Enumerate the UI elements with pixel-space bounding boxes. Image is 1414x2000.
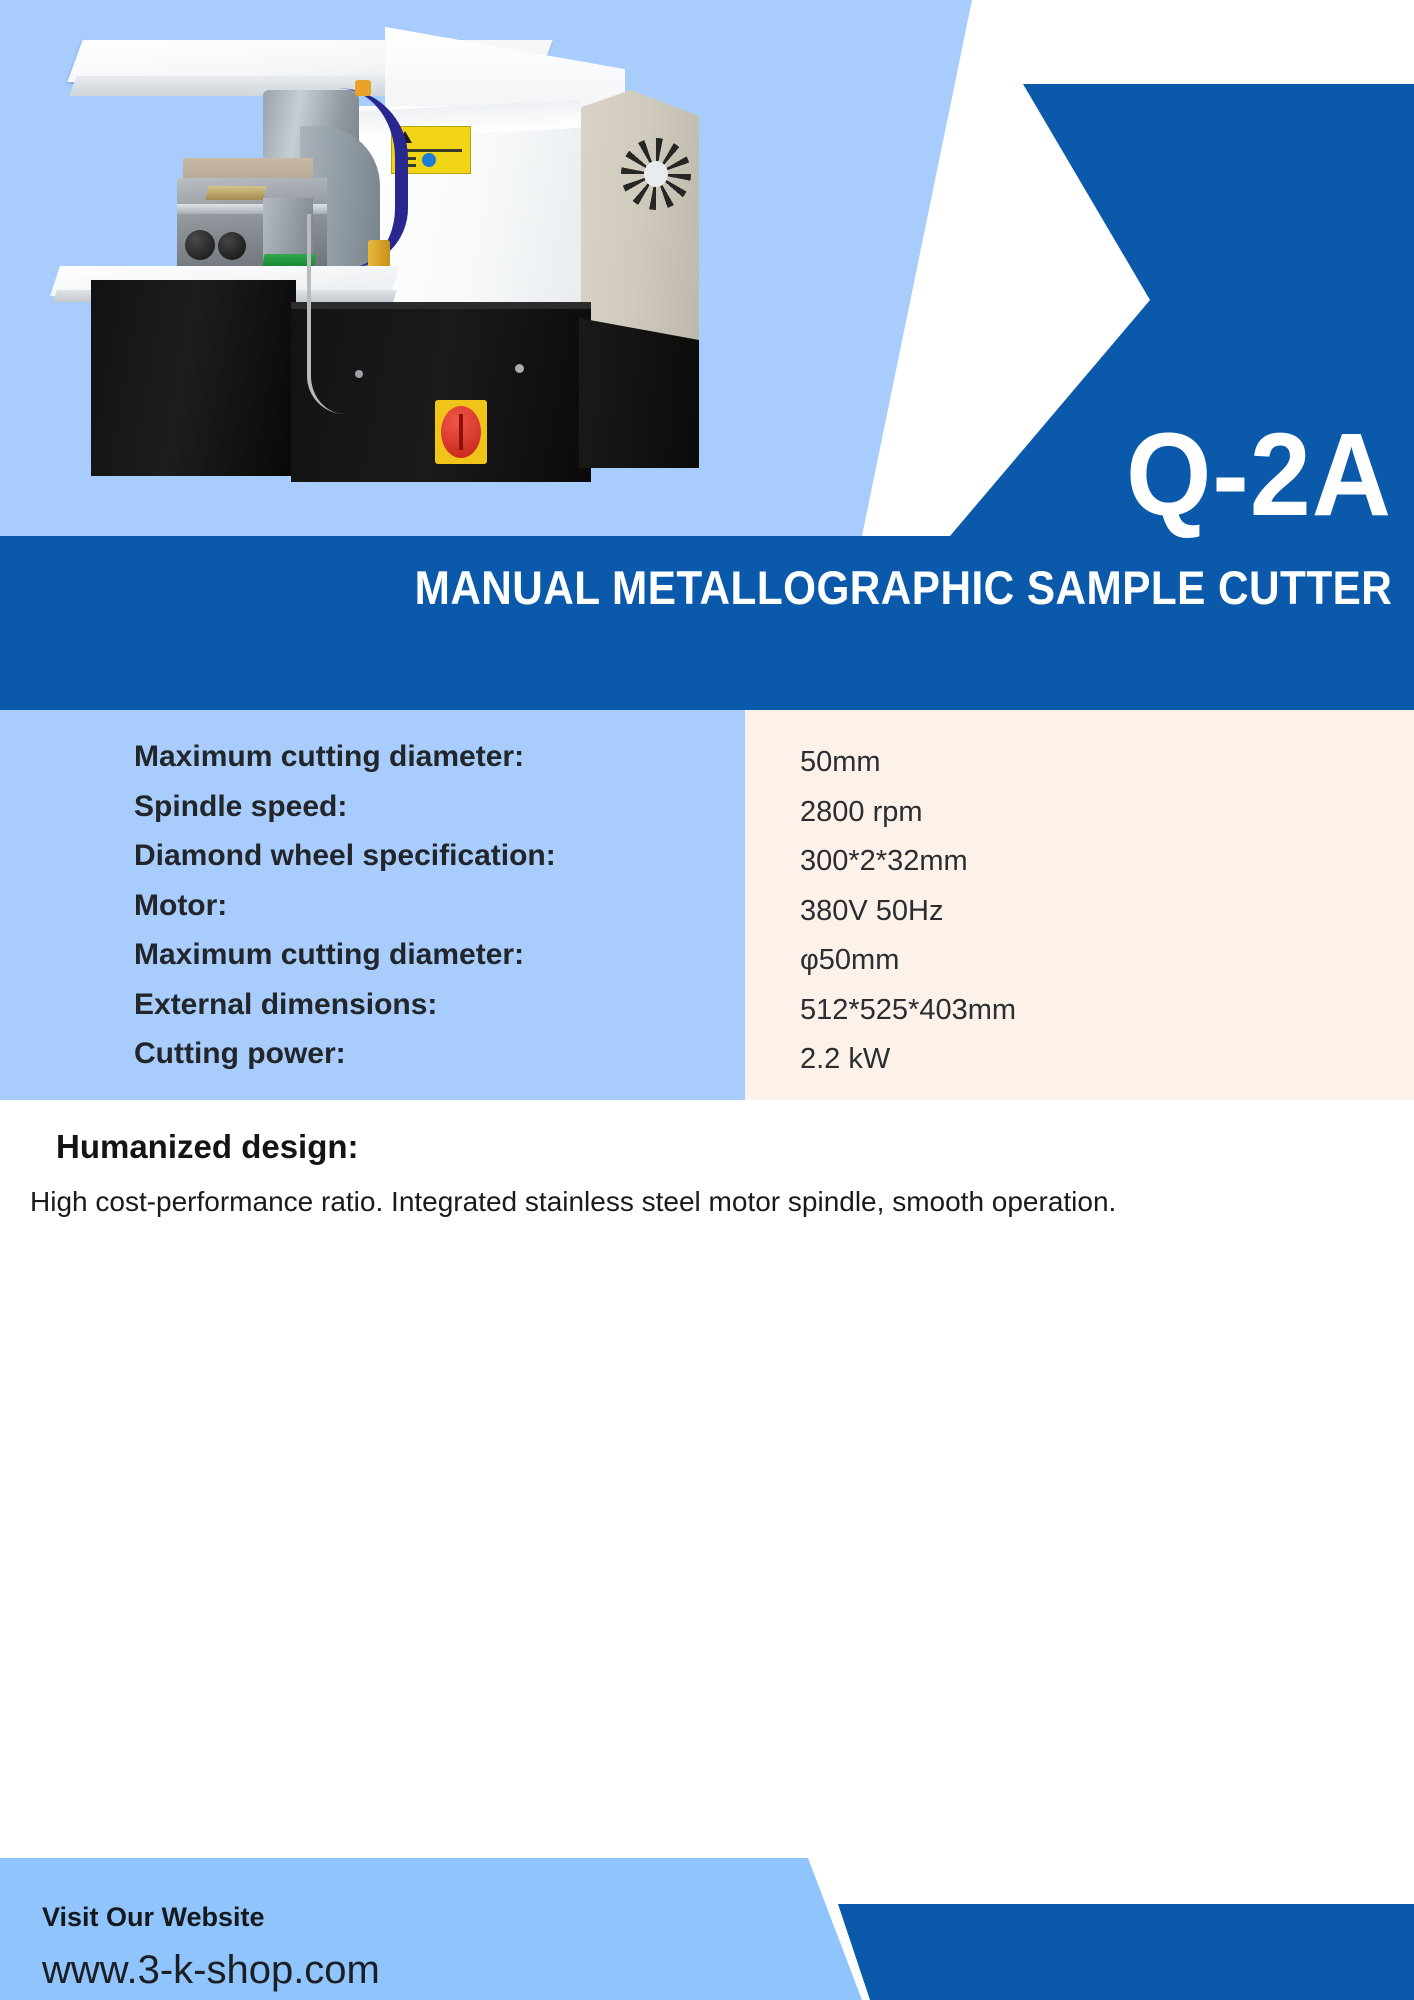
spec-label: Diamond wheel specification:: [134, 831, 734, 881]
footer-visit-label: Visit Our Website: [42, 1902, 265, 1933]
machine-clamp-knob-right: [218, 232, 246, 260]
spec-value: 2800 rpm: [800, 788, 1380, 838]
footer-website-link[interactable]: www.3-k-shop.com: [42, 1948, 380, 1993]
spec-label: External dimensions:: [134, 980, 734, 1030]
specifications-table: Maximum cutting diameter: Spindle speed:…: [0, 710, 1414, 1100]
product-datasheet-page: Q-2A MANUAL METALLOGRAPHIC SAMPLE CUTTER…: [0, 0, 1414, 2000]
fan-hub: [644, 161, 668, 187]
spec-value-column: 50mm 2800 rpm 300*2*32mm 380V 50Hz φ50mm…: [800, 738, 1380, 1085]
spec-label: Spindle speed:: [134, 782, 734, 832]
spec-label: Maximum cutting diameter:: [134, 930, 734, 980]
machine-clamp-knob-left: [185, 230, 215, 260]
spec-value: 50mm: [800, 738, 1380, 788]
spec-value: 2.2 kW: [800, 1035, 1380, 1085]
machine-base-left: [91, 280, 296, 476]
product-photo: [55, 18, 755, 478]
spec-value: 300*2*32mm: [800, 837, 1380, 887]
footer: Visit Our Website www.3-k-shop.com: [0, 1840, 1414, 2000]
title-band: Q-2A MANUAL METALLOGRAPHIC SAMPLE CUTTER: [0, 536, 1414, 710]
machine-sample: [206, 186, 267, 200]
machine-screw-2: [355, 370, 363, 378]
spec-label: Cutting power:: [134, 1029, 734, 1079]
machine-cable: [307, 214, 345, 414]
spec-label-column: Maximum cutting diameter: Spindle speed:…: [134, 732, 734, 1079]
feature-title: Humanized design:: [56, 1128, 359, 1166]
spec-label: Maximum cutting diameter:: [134, 732, 734, 782]
machine-screw-1: [515, 364, 524, 373]
spec-value: 380V 50Hz: [800, 887, 1380, 937]
page-subtitle: MANUAL METALLOGRAPHIC SAMPLE CUTTER: [414, 564, 1392, 611]
spec-label: Motor:: [134, 881, 734, 931]
spec-value: 512*525*403mm: [800, 986, 1380, 1036]
page-title-model: Q-2A: [1126, 416, 1392, 534]
machine-base-right: [579, 318, 699, 468]
spec-value: φ50mm: [800, 936, 1380, 986]
feature-description: High cost-performance ratio. Integrated …: [30, 1186, 1116, 1218]
coolant-hose-top-fitting: [355, 80, 371, 96]
warning-label-dot-icon: [422, 153, 436, 167]
power-switch-indicator: [459, 414, 463, 450]
